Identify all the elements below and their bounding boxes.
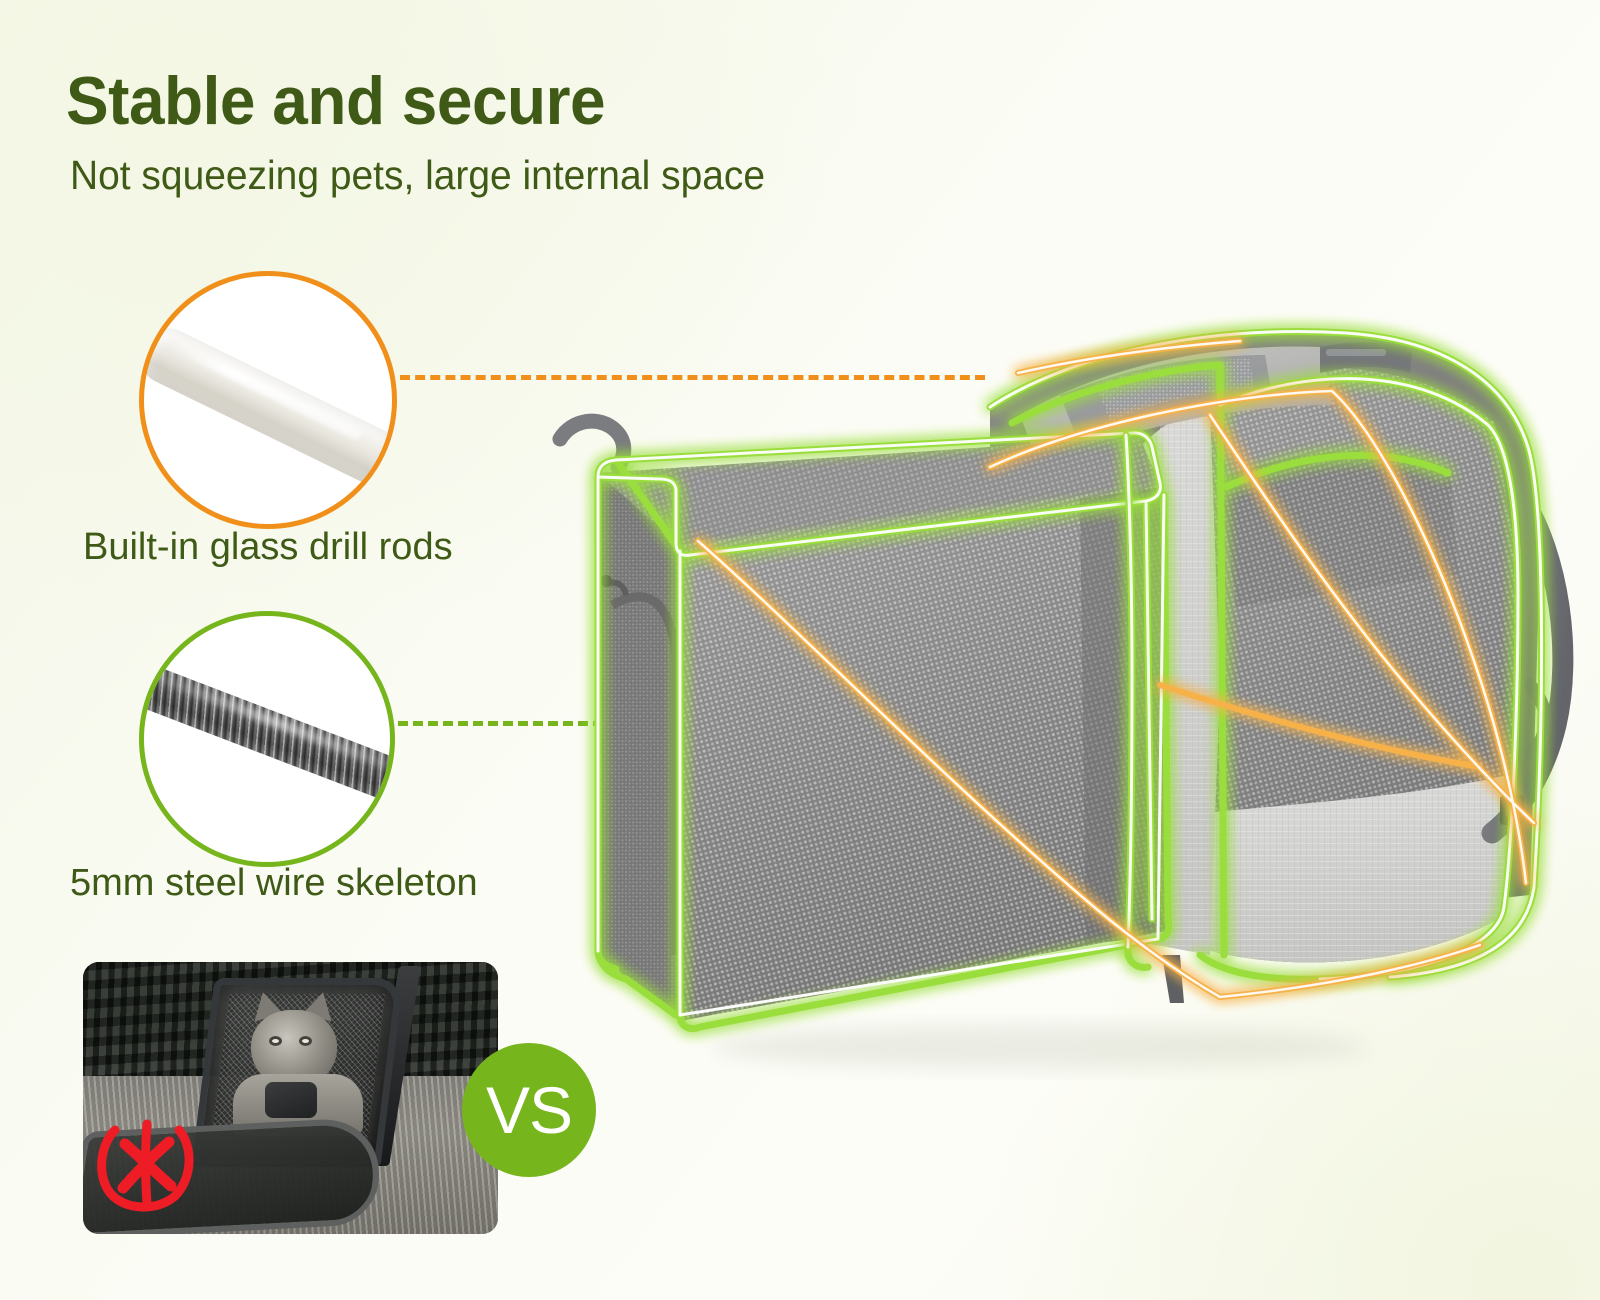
glass-rod-photo — [144, 276, 392, 524]
steel-wire-cable-shape — [139, 660, 395, 809]
marketing-banner: Stable and secure Not squeezing pets, la… — [0, 0, 1600, 1300]
feature-label-steel-wire: 5mm steel wire skeleton — [70, 862, 478, 905]
glass-rod-shape — [139, 319, 397, 497]
feature-label-glass-rod: Built-in glass drill rods — [83, 526, 453, 569]
steel-wire-cable-photo — [144, 616, 390, 862]
glass-rod-highlight — [169, 338, 363, 441]
feature-circle-steel-wire — [139, 611, 395, 867]
expandable-pet-carrier-backpack — [520, 255, 1590, 1085]
page-subtitle: Not squeezing pets, large internal space — [70, 152, 765, 199]
red-prohibition-mark — [95, 1112, 199, 1216]
vs-label: VS — [486, 1077, 572, 1143]
page-title: Stable and secure — [66, 62, 605, 140]
product-ground-shadow — [710, 1025, 1370, 1069]
feature-circle-glass-rod — [139, 271, 397, 529]
glass-rod-end-cap — [369, 437, 397, 493]
zipper-pull — [600, 575, 612, 587]
